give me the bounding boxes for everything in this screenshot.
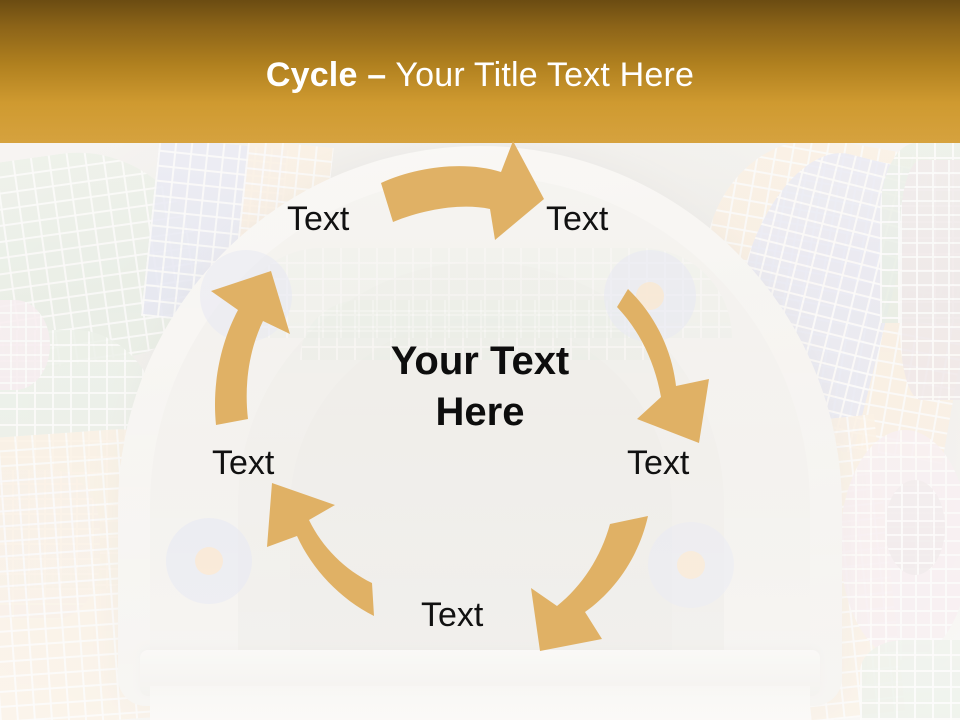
cycle-label-bottom[interactable]: Text bbox=[421, 598, 483, 632]
arrow-lower-left-icon[interactable] bbox=[267, 483, 374, 616]
arrow-upper-left-icon[interactable] bbox=[211, 271, 290, 425]
arrow-top-icon[interactable] bbox=[381, 141, 544, 240]
cycle-label-left[interactable]: Text bbox=[212, 446, 274, 480]
cycle-label-top-right[interactable]: Text bbox=[546, 202, 608, 236]
arrow-lower-right-icon[interactable] bbox=[531, 516, 648, 651]
cycle-label-top-left[interactable]: Text bbox=[287, 202, 349, 236]
cycle-center-line-1: Your Text bbox=[310, 336, 650, 387]
slide: Cycle – Your Title Text Here Text Text T… bbox=[0, 0, 960, 720]
cycle-center-text[interactable]: Your Text Here bbox=[310, 336, 650, 438]
cycle-label-right[interactable]: Text bbox=[627, 446, 689, 480]
cycle-center-line-2: Here bbox=[310, 387, 650, 438]
